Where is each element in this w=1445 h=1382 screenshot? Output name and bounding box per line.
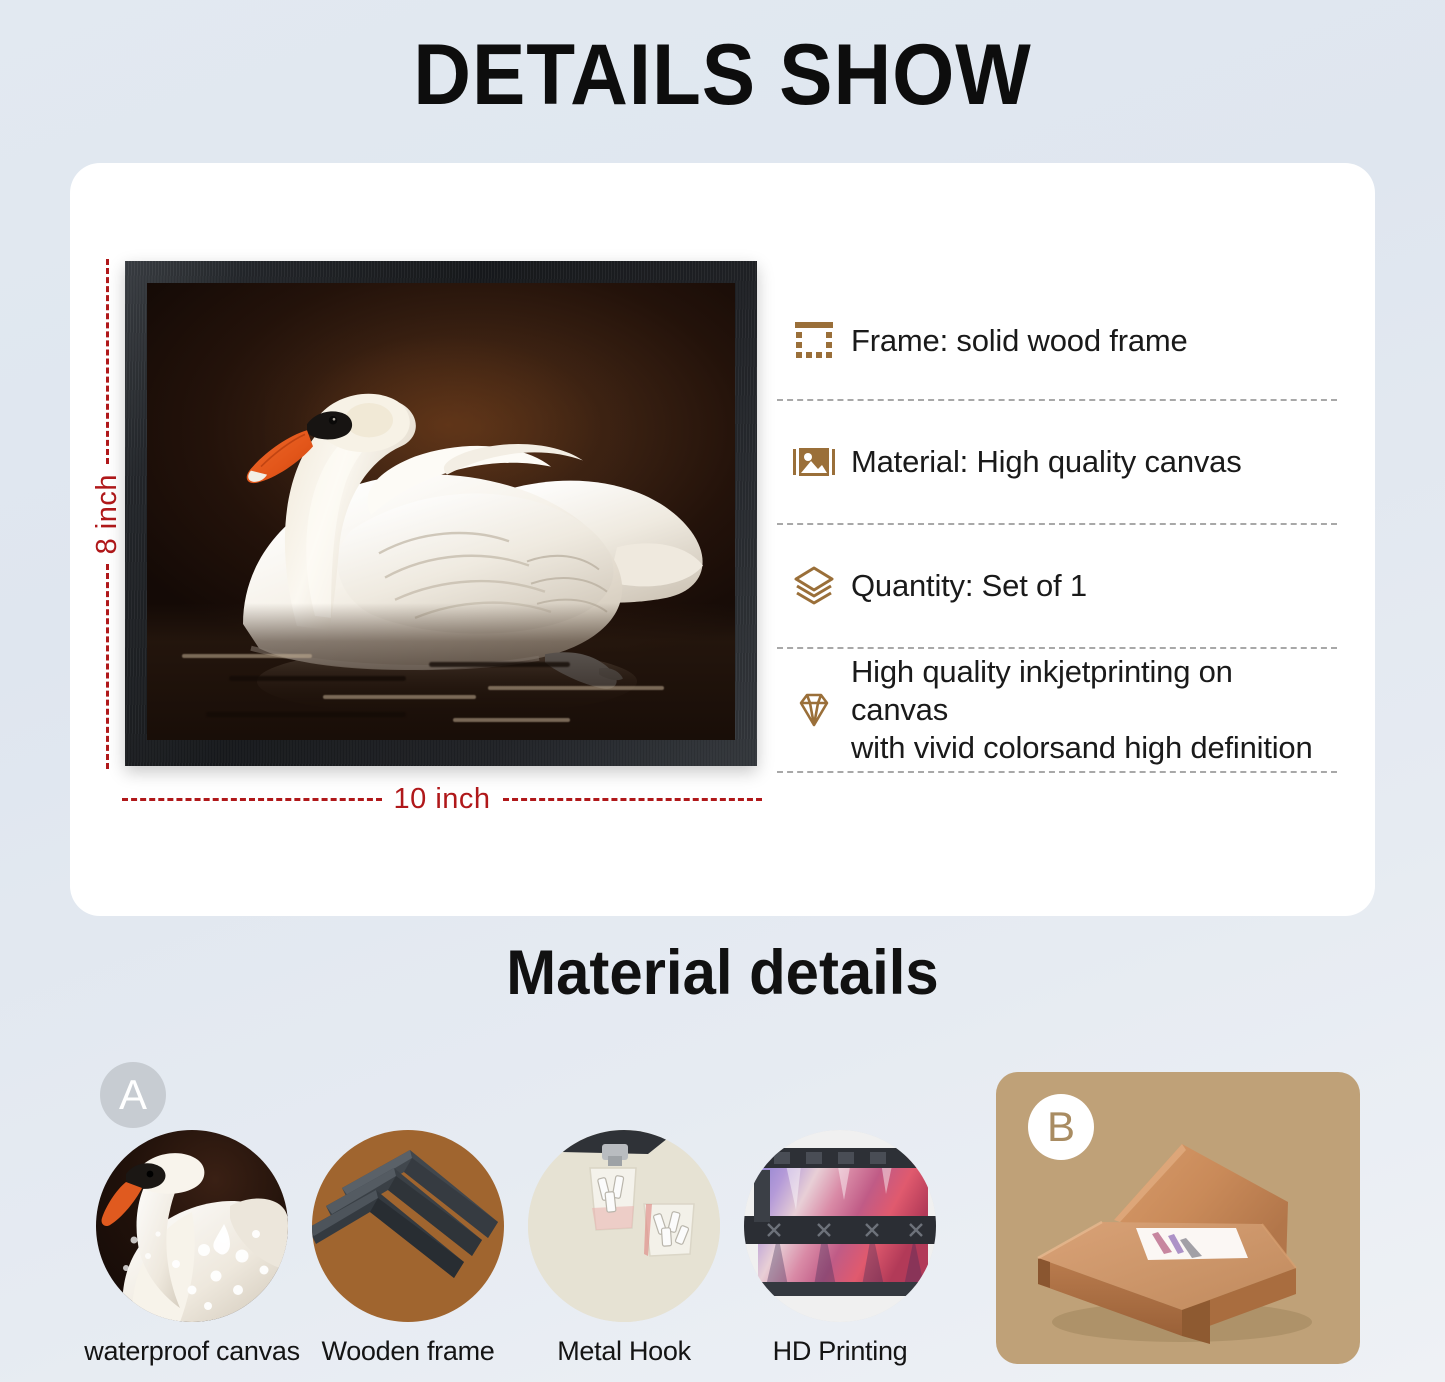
- feature-label: Frame: solid wood frame: [851, 322, 1188, 360]
- water-ripple: [453, 718, 571, 722]
- feature-row-frame: Frame: solid wood frame: [777, 283, 1337, 401]
- width-dimension-label: 10 inch: [382, 783, 503, 816]
- dimension-dash-line-left: [122, 798, 382, 801]
- water-ripple: [429, 662, 570, 667]
- thumbnail-waterproof-canvas[interactable]: waterproof canvas: [92, 1130, 292, 1367]
- thumbnail-metal-hook[interactable]: Metal Hook: [524, 1130, 724, 1367]
- wood-moulding-thumbnail: [312, 1130, 504, 1322]
- feature-row-material: Material: High quality canvas: [777, 401, 1337, 525]
- large-format-printer-illustration: [744, 1130, 936, 1322]
- feature-label-line1: High quality inkjetprinting on canvas: [851, 654, 1233, 727]
- wood-frame: [125, 261, 757, 766]
- frame-icon: [777, 318, 851, 364]
- water-ripple: [229, 676, 405, 681]
- section-title-material-details: Material details: [36, 937, 1409, 1009]
- water-ripple: [323, 695, 476, 699]
- details-card: 8 inch: [70, 163, 1375, 916]
- diamond-icon: [777, 687, 851, 733]
- material-group-a: A: [92, 1062, 952, 1362]
- thumbnail-wooden-frame[interactable]: Wooden frame: [308, 1130, 508, 1367]
- water-ripple: [488, 686, 664, 690]
- height-dimension-label: 8 inch: [91, 464, 124, 564]
- feature-label-line2: with vivid colorsand high definition: [851, 729, 1333, 767]
- printer-thumbnail: [744, 1130, 936, 1322]
- thumbnail-row: waterproof canvas: [92, 1130, 952, 1367]
- water-ripple: [206, 712, 406, 717]
- dimension-dash-line-right: [503, 798, 763, 801]
- swan-droplets-illustration: [96, 1130, 288, 1322]
- badge-b: B: [1028, 1094, 1094, 1160]
- water-surface: [147, 603, 735, 740]
- swan-droplets-thumbnail: [96, 1130, 288, 1322]
- metal-hook-illustration: [528, 1130, 720, 1322]
- feature-label: Material: High quality canvas: [851, 443, 1242, 481]
- badge-a: A: [100, 1062, 166, 1128]
- layers-icon: [777, 563, 851, 609]
- feature-row-printing: High quality inkjetprinting on canvas wi…: [777, 649, 1337, 773]
- feature-label: High quality inkjetprinting on canvas wi…: [851, 653, 1333, 766]
- feature-label: Quantity: Set of 1: [851, 567, 1087, 605]
- height-dimension-guide: 8 inch: [90, 259, 124, 769]
- page-title: DETAILS SHOW: [51, 26, 1395, 125]
- thumbnail-label: HD Printing: [773, 1336, 908, 1367]
- framed-artwork: [125, 261, 757, 766]
- dimension-dash-line-top: [106, 259, 109, 464]
- picture-icon: [777, 439, 851, 485]
- swan-painting: [147, 283, 735, 740]
- dimension-dash-line-bottom: [106, 564, 109, 769]
- frame-moulding-illustration: [312, 1130, 504, 1322]
- width-dimension-guide: 10 inch: [122, 779, 762, 819]
- feature-row-quantity: Quantity: Set of 1: [777, 525, 1337, 649]
- canvas-area: [147, 283, 735, 740]
- thumbnail-hd-printing[interactable]: HD Printing: [740, 1130, 940, 1367]
- metal-hook-thumbnail: [528, 1130, 720, 1322]
- material-group-b: B: [996, 1072, 1360, 1364]
- feature-list: Frame: solid wood frame Material: High q…: [777, 283, 1337, 773]
- thumbnail-label: Wooden frame: [322, 1336, 495, 1367]
- water-ripple: [182, 654, 311, 658]
- thumbnail-label: waterproof canvas: [84, 1336, 300, 1367]
- thumbnail-label: Metal Hook: [557, 1336, 691, 1367]
